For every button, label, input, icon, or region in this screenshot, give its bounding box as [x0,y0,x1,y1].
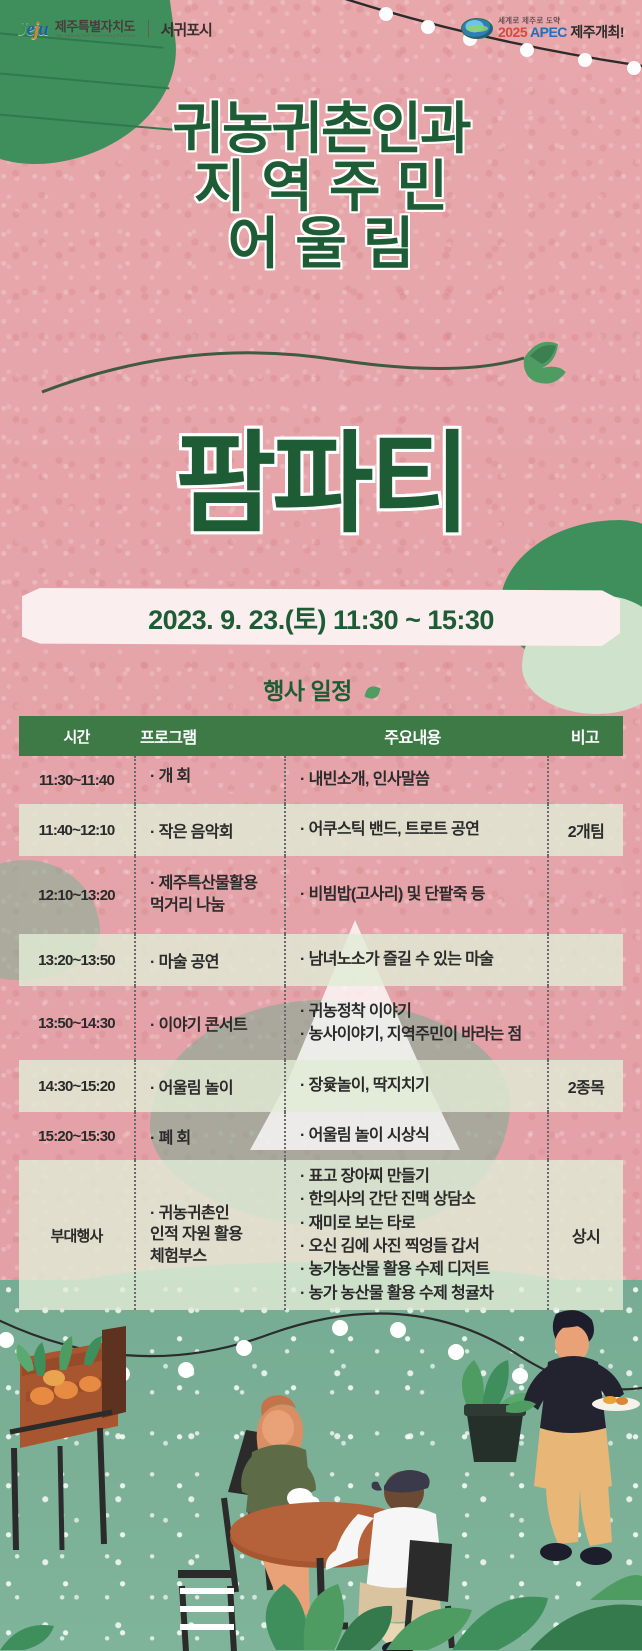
cell-desc: · 어쿠스틱 밴드, 트로트 공연 [284,804,547,856]
event-datetime: 2023. 9. 23.(토) 11:30 ~ 15:30 [22,588,620,646]
city-name: 서귀포시 [161,19,212,40]
headline-line-2: 지역주민 [0,158,642,216]
header-bar: Jeju 제주특별자치도 The Special Self-Governing … [0,8,642,50]
desc-line: · 농가농산물 활용 수제 디저트 [300,1258,493,1281]
cell-program: · 제주특산물활용 먹거리 나눔 [134,856,284,934]
apec-2025-logo: 세계로 제주로 도약 2025 APEC 제주개최! [461,17,624,41]
poster-root: Jeju 제주특별자치도 The Special Self-Governing … [0,0,642,1651]
vine-leaf-decoration [38,330,600,410]
date-ribbon: 2023. 9. 23.(토) 11:30 ~ 15:30 [22,588,620,648]
apec-year: 2025 [498,24,527,40]
cell-program: · 어울림 놀이 [134,1060,284,1112]
desc-line: · 비빔밥(고사리) 및 단팥죽 등 [300,883,485,906]
cell-time: 13:50~14:30 [19,986,134,1060]
program-text: · 제주특산물활용 먹거리 나눔 [150,873,257,916]
cell-note: 2개팀 [547,804,623,856]
desc-line: · 장윷놀이, 딱지치기 [300,1074,429,1097]
cell-note [547,934,623,986]
desc-line: · 표고 장아찌 만들기 [300,1165,493,1188]
column-header-note: 비고 [547,724,623,748]
headline-line-1: 귀농귀촌인과 [0,100,642,158]
desc-line: · 오신 김에 사진 찍엉들 갑서 [300,1235,493,1258]
cell-program: · 개 회 [134,756,284,804]
cell-program: · 이야기 콘서트 [134,986,284,1060]
cell-desc: · 어울림 놀이 시상식 [284,1112,547,1160]
poster-headline: 귀농귀촌인과 지역주민 어울림 [0,100,642,273]
table-header-row: 시간 프로그램 주요내용 비고 [19,716,623,756]
cell-time: 13:20~13:50 [19,934,134,986]
table-row: 15:20~15:30 · 폐 회 · 어울림 놀이 시상식 [19,1112,623,1160]
desc-line: · 농사이야기, 지역주민이 바라는 점 [300,1023,522,1046]
cell-note [547,986,623,1060]
table-row: 14:30~15:20 · 어울림 놀이 · 장윷놀이, 딱지치기 2종목 [19,1060,623,1112]
desc-line: · 귀농정착 이야기 [300,1000,522,1023]
logo-divider [148,20,149,38]
small-leaf-icon [364,685,380,701]
schedule-heading: 행사 일정 [0,672,642,706]
cell-program: · 작은 음악회 [134,804,284,856]
desc-line: · 재미로 보는 타로 [300,1212,493,1235]
desc-line: · 어쿠스틱 밴드, 트로트 공연 [300,818,479,841]
desc-line: · 농가 농산물 활용 수제 청귤차 [300,1282,493,1305]
table-row: 13:50~14:30 · 이야기 콘서트 · 귀농정착 이야기 · 농사이야기… [19,986,623,1060]
jeju-seogwipo-logo: Jeju 제주특별자치도 The Special Self-Governing … [18,19,212,40]
chair-left-far [178,1570,236,1651]
person-serving-food [506,1310,640,1565]
headline-line-3: 어울림 [0,215,642,273]
desc-line: · 남녀노소가 즐길 수 있는 마술 [300,948,493,971]
cell-desc: · 남녀노소가 즐길 수 있는 마술 [284,934,547,986]
cell-program: · 귀농귀촌인 인적 자원 활용 체험부스 [134,1160,284,1310]
cell-time: 15:20~15:30 [19,1112,134,1160]
desc-line: · 어울림 놀이 시상식 [300,1124,429,1147]
cell-note [547,756,623,804]
cell-time: 11:30~11:40 [19,756,134,804]
cell-desc: · 귀농정착 이야기 · 농사이야기, 지역주민이 바라는 점 [284,986,547,1060]
cell-note [547,1112,623,1160]
cell-time: 11:40~12:10 [19,804,134,856]
produce-stand [10,1326,126,1550]
table-row: 13:20~13:50 · 마술 공연 · 남녀노소가 즐길 수 있는 마술 [19,934,623,986]
column-header-desc: 주요내용 [284,724,547,748]
cell-desc: · 내빈소개, 인사말씀 [284,756,547,804]
schedule-table: 시간 프로그램 주요내용 비고 11:30~11:40 · 개 회 · 내빈소개… [19,716,623,1310]
cell-desc: · 장윷놀이, 딱지치기 [284,1060,547,1112]
province-name-en: The Special Self-Governing Province [55,33,136,38]
schedule-heading-text: 행사 일정 [263,678,352,704]
farm-party-illustration [0,1300,642,1651]
desc-line: · 한의사의 간단 진맥 상담소 [300,1188,493,1211]
table-row: 11:40~12:10 · 작은 음악회 · 어쿠스틱 밴드, 트로트 공연 2… [19,804,623,856]
apec-host-text: 제주개최! [570,24,624,40]
program-text: · 귀농귀촌인 인적 자원 활용 체험부스 [150,1203,242,1268]
apec-emblem-icon [461,18,493,39]
cell-note: 상시 [547,1160,623,1310]
cell-program: · 마술 공연 [134,934,284,986]
cell-note: 2종목 [547,1060,623,1112]
cell-time: 부대행사 [19,1160,134,1310]
province-name-ko: 제주특별자치도 [55,20,136,34]
column-header-time: 시간 [19,726,134,747]
table-row: 11:30~11:40 · 개 회 · 내빈소개, 인사말씀 [19,756,623,804]
cell-desc: · 표고 장아찌 만들기 · 한의사의 간단 진맥 상담소 · 재미로 보는 타… [284,1160,547,1310]
cell-note [547,856,623,934]
cell-program: · 폐 회 [134,1112,284,1160]
cell-time: 12:10~13:20 [19,856,134,934]
jeju-wordmark: Jeju [18,20,48,39]
cell-desc: · 비빔밥(고사리) 및 단팥죽 등 [284,856,547,934]
apec-name: APEC [530,24,567,40]
cell-time: 14:30~15:20 [19,1060,134,1112]
column-header-program: 프로그램 [134,724,284,748]
desc-line: · 내빈소개, 인사말씀 [300,768,429,791]
table-row: 부대행사 · 귀농귀촌인 인적 자원 활용 체험부스 · 표고 장아찌 만들기 … [19,1160,623,1310]
table-row: 12:10~13:20 · 제주특산물활용 먹거리 나눔 · 비빔밥(고사리) … [19,856,623,934]
main-title: 팜파티 [0,430,642,540]
